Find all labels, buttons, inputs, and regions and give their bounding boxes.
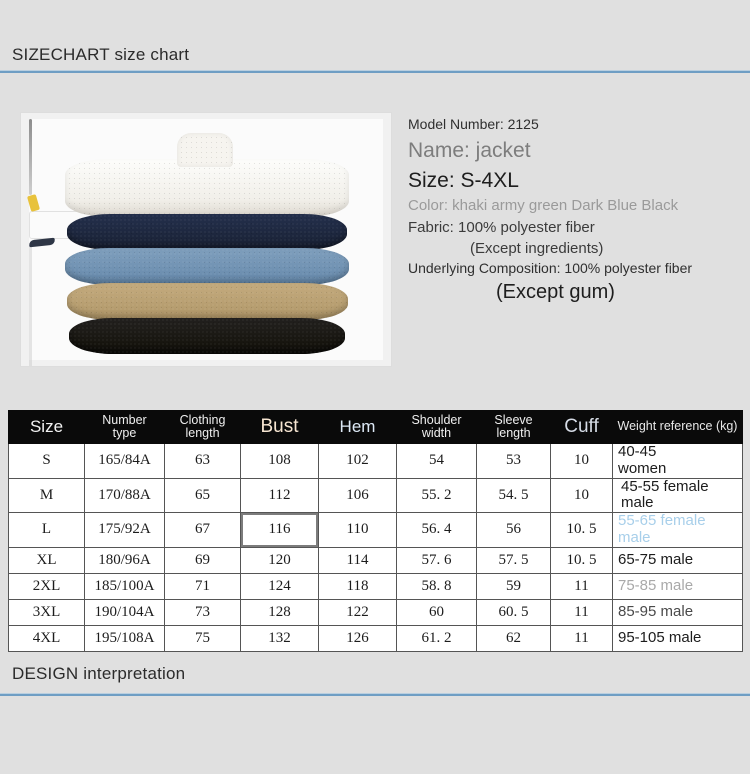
table-header-row: Size Number type Clothing length Bust He… (9, 411, 743, 444)
cell-cuff[interactable]: 11 (551, 625, 613, 651)
zipper-top (29, 119, 32, 195)
cell-bust[interactable]: 132 (241, 625, 319, 651)
cell-number-type[interactable]: 195/108A (85, 625, 165, 651)
cell-bust[interactable]: 108 (241, 444, 319, 479)
cell-size[interactable]: L (9, 513, 85, 548)
col-header-size[interactable]: Size (9, 411, 85, 444)
cell-number-type[interactable]: 175/92A (85, 513, 165, 548)
cell-number-type[interactable]: 190/104A (85, 599, 165, 625)
spec-fabric: Fabric: 100% polyester fiber (408, 218, 746, 237)
col-header-weight-reference[interactable]: Weight reference (kg) (613, 411, 743, 444)
spec-model-number: Model Number: 2125 (408, 116, 746, 134)
cell-weight-reference[interactable]: 40-45women (613, 444, 743, 479)
table-row: 2XL185/100A7112411858. 8591175-85 male (9, 573, 743, 599)
spec-underlying-composition: Underlying Composition: 100% polyester f… (408, 260, 746, 278)
cell-cuff[interactable]: 10. 5 (551, 547, 613, 573)
table-row: M170/88A6511210655. 254. 51045-55 female… (9, 478, 743, 513)
spec-name: Name: jacket (408, 138, 746, 165)
design-title: DESIGN interpretation (0, 655, 750, 693)
cell-shoulder-width[interactable]: 55. 2 (397, 478, 477, 513)
weight-audience: women (618, 461, 742, 478)
cell-bust-selected[interactable]: 116 (241, 513, 319, 548)
brand-logo-icon (29, 238, 56, 248)
cell-size[interactable]: XL (9, 547, 85, 573)
cell-hem[interactable]: 126 (319, 625, 397, 651)
cell-weight-reference[interactable]: 55-65 female male (613, 513, 743, 548)
col-header-clothing-length-line2: length (185, 426, 219, 440)
cell-weight-reference[interactable]: 95-105 male (613, 625, 743, 651)
product-hero: Model Number: 2125 Name: jacket Size: S-… (0, 92, 750, 392)
cell-hem[interactable]: 110 (319, 513, 397, 548)
col-header-shoulder-width-line2: width (422, 426, 451, 440)
col-header-shoulder-width-line1: Shoulder (411, 413, 461, 427)
cell-weight-reference[interactable]: 75-85 male (613, 573, 743, 599)
cell-shoulder-width[interactable]: 54 (397, 444, 477, 479)
cell-clothing-length[interactable]: 71 (165, 573, 241, 599)
cell-sleeve-length[interactable]: 56 (477, 513, 551, 548)
cell-hem[interactable]: 114 (319, 547, 397, 573)
cell-cuff[interactable]: 10 (551, 478, 613, 513)
table-row: 3XL190/104A731281226060. 51185-95 male (9, 599, 743, 625)
cell-weight-reference[interactable]: 45-55 female male (613, 478, 743, 513)
cell-number-type[interactable]: 165/84A (85, 444, 165, 479)
jacket-collar (177, 133, 233, 167)
col-header-number-type-line1: Number (102, 413, 146, 427)
size-table-body: S165/84A6310810254531040-45womenM170/88A… (9, 444, 743, 652)
sizechart-title: SIZECHART size chart (0, 40, 750, 70)
table-row: S165/84A6310810254531040-45women (9, 444, 743, 479)
cell-size[interactable]: 3XL (9, 599, 85, 625)
sizechart-section-header: SIZECHART size chart (0, 40, 750, 73)
col-header-cuff[interactable]: Cuff (551, 411, 613, 444)
cell-hem[interactable]: 118 (319, 573, 397, 599)
cell-sleeve-length[interactable]: 53 (477, 444, 551, 479)
cell-clothing-length[interactable]: 67 (165, 513, 241, 548)
table-row: L175/92A6711611056. 45610. 555-65 female… (9, 513, 743, 548)
cell-clothing-length[interactable]: 69 (165, 547, 241, 573)
product-photo-canvas (29, 119, 383, 360)
cell-size[interactable]: S (9, 444, 85, 479)
col-header-sleeve-length[interactable]: Sleeve length (477, 411, 551, 444)
col-header-shoulder-width[interactable]: Shoulder width (397, 411, 477, 444)
cell-shoulder-width[interactable]: 58. 8 (397, 573, 477, 599)
cell-bust[interactable]: 124 (241, 573, 319, 599)
cell-shoulder-width[interactable]: 60 (397, 599, 477, 625)
product-spec-list: Model Number: 2125 Name: jacket Size: S-… (408, 116, 746, 308)
sizechart-divider (0, 70, 750, 73)
cell-size[interactable]: 2XL (9, 573, 85, 599)
col-header-number-type-line2: type (113, 426, 137, 440)
col-header-bust[interactable]: Bust (241, 411, 319, 444)
weight-range: 40-45 (618, 444, 742, 461)
cell-weight-reference[interactable]: 65-75 male (613, 547, 743, 573)
cell-bust[interactable]: 120 (241, 547, 319, 573)
cell-number-type[interactable]: 180/96A (85, 547, 165, 573)
zipper-stack-line (29, 246, 32, 367)
cell-sleeve-length[interactable]: 54. 5 (477, 478, 551, 513)
col-header-sleeve-length-line2: length (496, 426, 530, 440)
cell-sleeve-length[interactable]: 59 (477, 573, 551, 599)
spec-except-ingredients: (Except ingredients) (408, 239, 746, 258)
cell-number-type[interactable]: 170/88A (85, 478, 165, 513)
cell-shoulder-width[interactable]: 56. 4 (397, 513, 477, 548)
col-header-clothing-length[interactable]: Clothing length (165, 411, 241, 444)
cell-hem[interactable]: 122 (319, 599, 397, 625)
cell-shoulder-width[interactable]: 61. 2 (397, 625, 477, 651)
jacket-navy (67, 214, 347, 250)
cell-sleeve-length[interactable]: 60. 5 (477, 599, 551, 625)
cell-cuff[interactable]: 10 (551, 444, 613, 479)
cell-clothing-length[interactable]: 65 (165, 478, 241, 513)
cell-number-type[interactable]: 185/100A (85, 573, 165, 599)
cell-clothing-length[interactable]: 73 (165, 599, 241, 625)
cell-clothing-length[interactable]: 75 (165, 625, 241, 651)
cell-clothing-length[interactable]: 63 (165, 444, 241, 479)
cell-cuff[interactable]: 11 (551, 599, 613, 625)
spec-colors: Color: khaki army green Dark Blue Black (408, 196, 746, 215)
cell-weight-reference[interactable]: 85-95 male (613, 599, 743, 625)
design-divider (0, 693, 750, 696)
cell-sleeve-length[interactable]: 62 (477, 625, 551, 651)
design-section-header: DESIGN interpretation (0, 655, 750, 696)
cell-cuff[interactable]: 10. 5 (551, 513, 613, 548)
table-row: XL180/96A6912011457. 657. 510. 565-75 ma… (9, 547, 743, 573)
jacket-black (69, 318, 345, 354)
jacket-light-blue (65, 248, 349, 285)
cell-bust[interactable]: 128 (241, 599, 319, 625)
cell-sleeve-length[interactable]: 57. 5 (477, 547, 551, 573)
jacket-white (65, 159, 349, 217)
size-chart-table: Size Number type Clothing length Bust He… (8, 410, 743, 652)
spec-size-range: Size: S-4XL (408, 168, 746, 195)
cell-hem[interactable]: 106 (319, 478, 397, 513)
zipper-pull-icon (27, 194, 40, 212)
cell-cuff[interactable]: 11 (551, 573, 613, 599)
table-row: 4XL195/108A7513212661. 2621195-105 male (9, 625, 743, 651)
cell-hem[interactable]: 102 (319, 444, 397, 479)
col-header-sleeve-length-line1: Sleeve (494, 413, 532, 427)
product-photo[interactable] (20, 112, 392, 367)
cell-size[interactable]: M (9, 478, 85, 513)
spec-except-gum: (Except gum) (408, 280, 746, 306)
col-header-clothing-length-line1: Clothing (180, 413, 226, 427)
jacket-khaki (67, 283, 348, 320)
col-header-number-type[interactable]: Number type (85, 411, 165, 444)
cell-size[interactable]: 4XL (9, 625, 85, 651)
col-header-hem[interactable]: Hem (319, 411, 397, 444)
cell-shoulder-width[interactable]: 57. 6 (397, 547, 477, 573)
cell-bust[interactable]: 112 (241, 478, 319, 513)
